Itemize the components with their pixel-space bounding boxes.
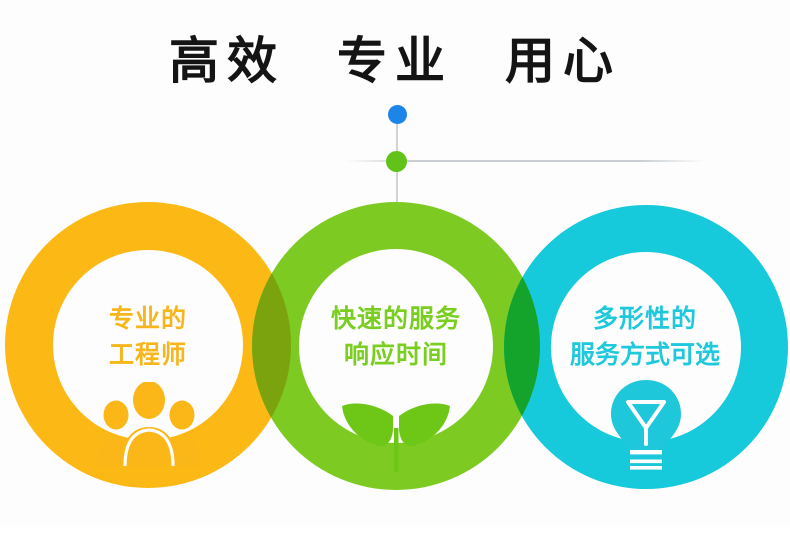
overlap-orange-green <box>230 190 340 502</box>
bottom-edge-band <box>0 527 790 557</box>
overlap-green-cyan <box>480 190 590 502</box>
venn-rings <box>0 0 790 557</box>
infographic-canvas: 高效专业用心 <box>0 0 790 557</box>
